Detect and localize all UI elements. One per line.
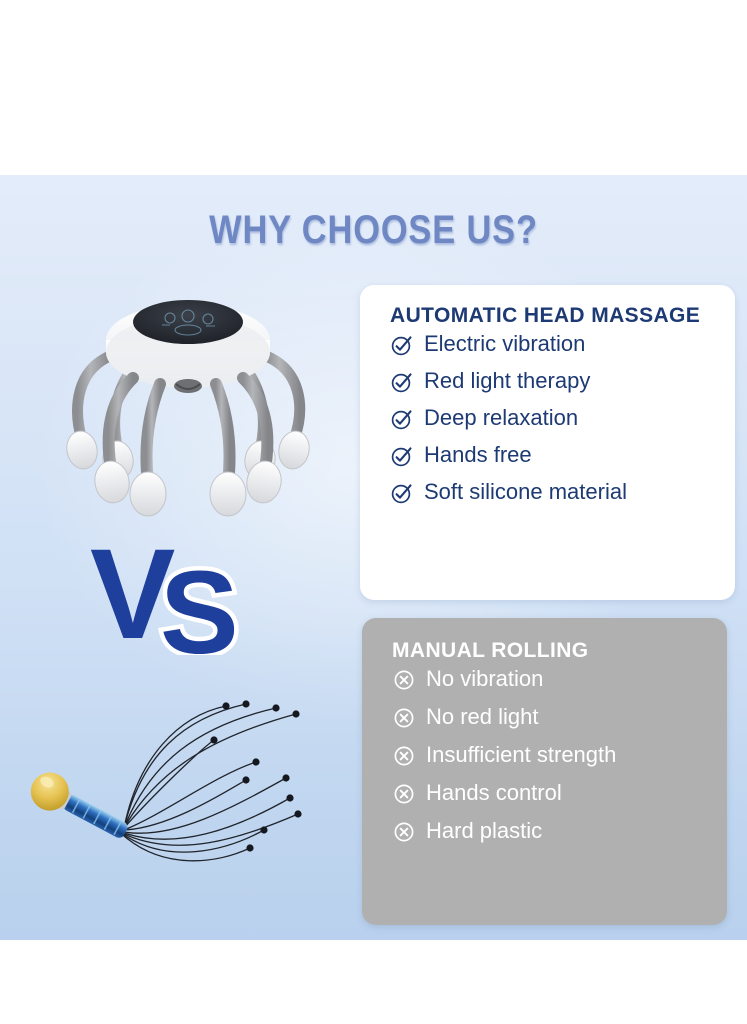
list-item-label: Insufficient strength xyxy=(426,744,616,768)
check-circle-icon xyxy=(390,370,414,394)
feature-list-automatic: Electric vibration Red light therapy Dee… xyxy=(390,333,719,505)
list-item: Red light therapy xyxy=(390,370,719,394)
cross-circle-icon xyxy=(392,820,416,844)
manual-head-scratcher-image xyxy=(18,688,328,903)
check-circle-icon xyxy=(390,481,414,505)
infographic-page: WHY CHOOSE US? xyxy=(0,0,747,1024)
list-item-label: No vibration xyxy=(426,668,543,692)
scratcher-wires xyxy=(124,704,298,861)
list-item-label: Soft silicone material xyxy=(424,481,627,505)
page-title: WHY CHOOSE US? xyxy=(52,210,694,250)
list-item: No red light xyxy=(392,706,713,730)
vs-letter-s: S xyxy=(160,547,239,655)
list-item-label: Hard plastic xyxy=(426,820,542,844)
vs-badge: V S S xyxy=(88,520,288,655)
automatic-head-massager-image xyxy=(38,278,338,533)
check-circle-icon xyxy=(390,444,414,468)
cross-circle-icon xyxy=(392,782,416,806)
list-item: Electric vibration xyxy=(390,333,719,357)
card-manual-rolling: MANUAL ROLLING No vibration No red light xyxy=(362,618,727,925)
check-circle-icon xyxy=(390,407,414,431)
list-item-label: Deep relaxation xyxy=(424,407,578,431)
card-automatic-head-massage: AUTOMATIC HEAD MASSAGE Electric vibratio… xyxy=(360,285,735,600)
list-item-label: Red light therapy xyxy=(424,370,590,394)
list-item: Soft silicone material xyxy=(390,481,719,505)
cross-circle-icon xyxy=(392,668,416,692)
cross-circle-icon xyxy=(392,706,416,730)
check-circle-icon xyxy=(390,333,414,357)
list-item: Insufficient strength xyxy=(392,744,713,768)
scratcher-handle xyxy=(24,766,135,849)
list-item: Hands control xyxy=(392,782,713,806)
cross-circle-icon xyxy=(392,744,416,768)
list-item-label: No red light xyxy=(426,706,539,730)
list-item: Deep relaxation xyxy=(390,407,719,431)
feature-list-manual: No vibration No red light Insufficient s… xyxy=(392,668,713,844)
card-heading-automatic: AUTOMATIC HEAD MASSAGE xyxy=(390,303,719,329)
list-item-label: Hands control xyxy=(426,782,562,806)
list-item: Hard plastic xyxy=(392,820,713,844)
list-item: Hands free xyxy=(390,444,719,468)
list-item: No vibration xyxy=(392,668,713,692)
list-item-label: Hands free xyxy=(424,444,532,468)
massager-pads-front xyxy=(92,458,285,516)
card-heading-manual: MANUAL ROLLING xyxy=(392,638,713,664)
list-item-label: Electric vibration xyxy=(424,333,585,357)
